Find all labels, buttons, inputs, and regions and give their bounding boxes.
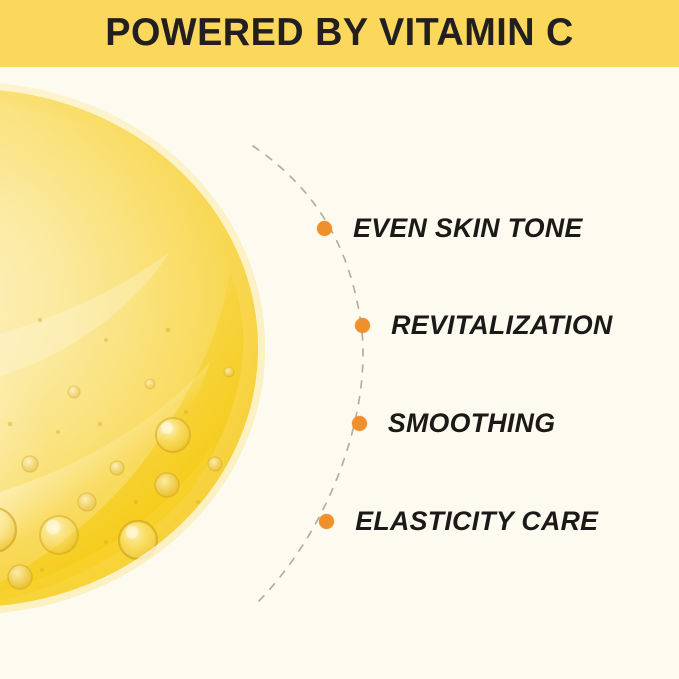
bullet-dot-icon: [317, 221, 332, 236]
benefit-item-smoothing: SMOOTHING: [352, 406, 556, 440]
gel-drop-artwork: [0, 67, 679, 679]
benefit-item-elasticity-care: ELASTICITY CARE: [319, 504, 600, 538]
benefit-label: EVEN SKIN TONE: [353, 215, 582, 242]
bullet-dot-icon: [352, 416, 367, 431]
gel-drop-image: [0, 72, 290, 632]
benefit-label: REVITALIZATION: [391, 312, 612, 339]
benefit-label: ELASTICITY CARE: [355, 508, 598, 535]
page-title: POWERED BY VITAMIN C: [105, 13, 574, 54]
vitamin-c-infographic: POWERED BY VITAMIN C: [0, 0, 679, 679]
bullet-dot-icon: [319, 514, 334, 529]
bullet-dot-icon: [355, 318, 370, 333]
benefit-item-revitalization: REVITALIZATION: [355, 308, 614, 342]
benefit-item-even-skin-tone: EVEN SKIN TONE: [317, 211, 584, 245]
header-band: POWERED BY VITAMIN C: [0, 0, 679, 67]
benefit-label: SMOOTHING: [388, 410, 556, 437]
